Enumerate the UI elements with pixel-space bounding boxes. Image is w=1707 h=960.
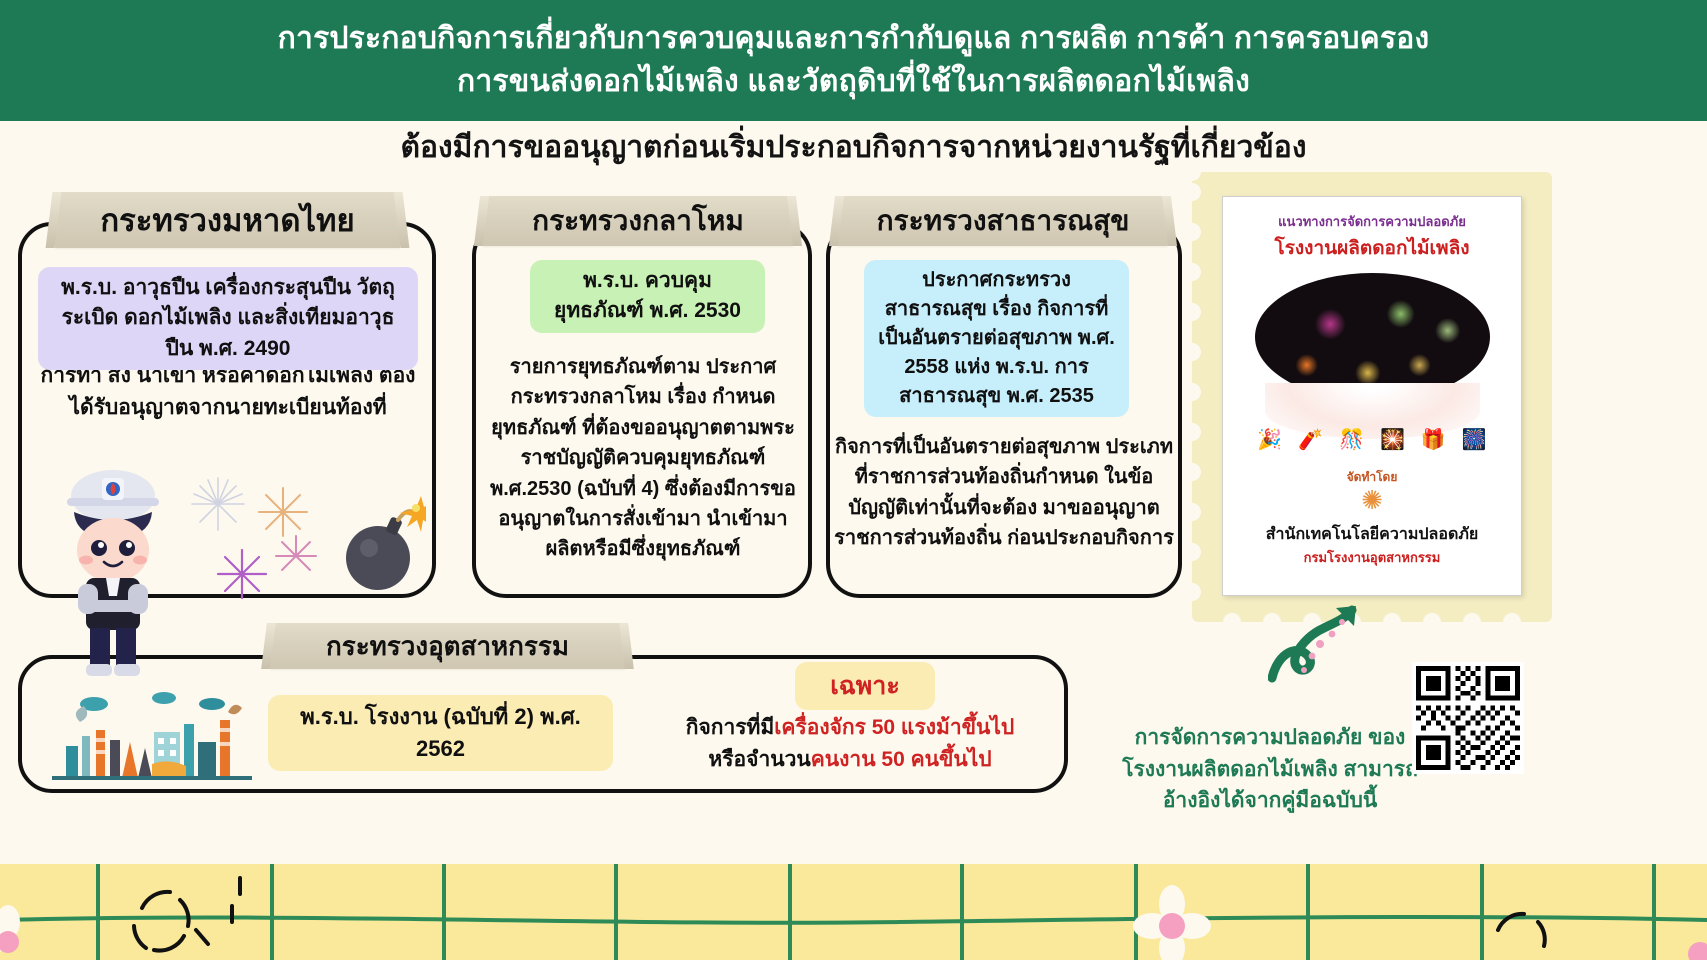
firecracker-icons-row: 🎉 🧨 🎊 🎇 🎁 🎆 bbox=[1257, 427, 1486, 452]
industry-condition-segment: คนงาน 50 คนขึ้นไป bbox=[811, 748, 992, 771]
fireworks-photo bbox=[1255, 273, 1490, 401]
tape-header-interior: กระทรวงมหาดไทย bbox=[55, 192, 400, 248]
strip-grid-lines bbox=[0, 864, 1707, 960]
footer-note: การจัดการความปลอดภัย ของโรงงานผลิตดอกไม้… bbox=[1120, 722, 1420, 817]
firecracker-icon: 🎊 bbox=[1339, 427, 1364, 452]
tape-header-public-health: กระทรวงสาธารณสุข bbox=[838, 196, 1168, 246]
bomb-icon bbox=[336, 478, 426, 598]
factory-icon bbox=[52, 676, 252, 786]
subtitle: ต้องมีการขออนุญาตก่อนเริ่มประกอบกิจการจา… bbox=[0, 128, 1707, 167]
header-title-line-1: การประกอบกิจการเกี่ยวกับการควบคุมและการก… bbox=[278, 20, 1430, 58]
firecracker-icon: 🎇 bbox=[1380, 427, 1405, 452]
industry-condition-segment: เครื่องจักร 50 แรงม้าขึ้นไป bbox=[774, 716, 1014, 739]
firecracker-icon: 🎉 bbox=[1257, 427, 1282, 452]
tape-header-defence: กระทรวงกลาโหม bbox=[483, 196, 793, 246]
firecracker-icon: 🎆 bbox=[1462, 427, 1487, 452]
sparkle-icon: ✺ bbox=[1361, 485, 1383, 516]
fireworks-icon bbox=[178, 466, 338, 606]
sketch-circle-decoration bbox=[134, 878, 1545, 951]
law-pill-industry: พ.ร.บ. โรงงาน (ฉบับที่ 2) พ.ศ. 2562 bbox=[268, 695, 613, 771]
law-pill-defence: พ.ร.บ. ควบคุมยุทธภัณฑ์ พ.ศ. 2530 bbox=[530, 260, 765, 333]
booklet-cover: แนวทางการจัดการความปลอดภัย โรงงานผลิตดอก… bbox=[1222, 196, 1522, 596]
tape-header-industry: กระทรวงอุตสาหกรรม bbox=[270, 623, 625, 669]
safety-worker-mascot-icon bbox=[48, 452, 178, 682]
firecracker-icon: 🎁 bbox=[1421, 427, 1446, 452]
qr-code-icon[interactable] bbox=[1412, 662, 1524, 774]
body-text-defence: รายการยุทธภัณฑ์ตาม ประกาศกระทรวงกลาโหม เ… bbox=[480, 352, 806, 565]
badge-only-condition: เฉพาะ bbox=[795, 662, 935, 710]
bottom-decorative-strip bbox=[0, 864, 1707, 960]
booklet-title: โรงงานผลิตดอกไม้เพลิง bbox=[1274, 233, 1469, 263]
booklet-org-line-1: สำนักเทคโนโลยีความปลอดภัย bbox=[1266, 522, 1479, 547]
body-text-public-health: กิจการที่เป็นอันตรายต่อสุขภาพ ประเภทที่ร… bbox=[832, 432, 1176, 554]
law-pill-public-health: ประกาศกระทรวงสาธารณสุข เรื่อง กิจการที่เ… bbox=[864, 260, 1129, 417]
curved-arrow-icon bbox=[1268, 600, 1368, 690]
industry-condition-segment: กิจการที่มี bbox=[686, 716, 775, 739]
header-title-line-2: การขนส่งดอกไม้เพลิง และวัตถุดิบที่ใช้ในก… bbox=[457, 63, 1250, 101]
law-pill-interior: พ.ร.บ. อาวุธปืน เครื่องกระสุนปืน วัตถุระ… bbox=[38, 267, 418, 370]
booklet-subtitle: แนวทางการจัดการความปลอดภัย bbox=[1278, 211, 1466, 232]
body-text-industry: กิจการที่มีเครื่องจักร 50 แรงม้าขึ้นไปหร… bbox=[650, 712, 1050, 776]
booklet-org-line-2: กรมโรงงานอุตสาหกรรม bbox=[1304, 547, 1441, 568]
infographic-page: การประกอบกิจการเกี่ยวกับการควบคุมและการก… bbox=[0, 0, 1707, 960]
header-banner: การประกอบกิจการเกี่ยวกับการควบคุมและการก… bbox=[0, 0, 1707, 121]
industry-condition-segment: หรือจำนวน bbox=[708, 748, 810, 771]
firecracker-icon: 🧨 bbox=[1298, 427, 1323, 452]
